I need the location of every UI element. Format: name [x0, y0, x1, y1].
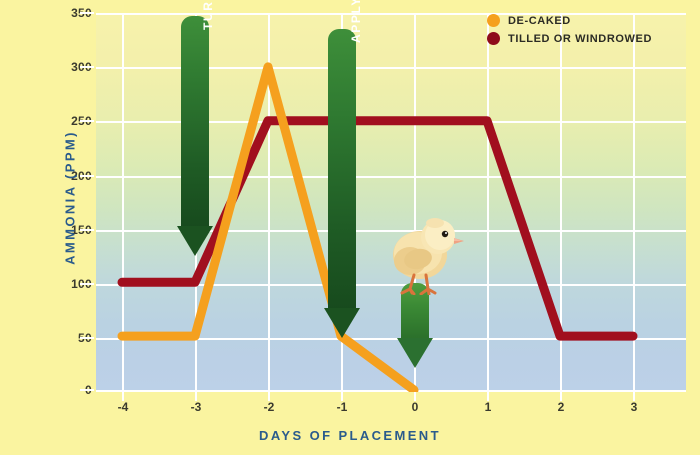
annotation-arrow-turn-on-heat: TURN ON HEAT: [181, 16, 209, 256]
annotation-label-turn-on-heat: TURN ON HEAT: [201, 0, 215, 30]
y-tick-mark: [80, 12, 94, 14]
plot-area: TURN ON HEAT APPLY LITTER TREATMENT: [96, 13, 686, 392]
chick-illustration: [388, 213, 466, 295]
x-tick-label: 1: [485, 400, 492, 414]
arrow-head-icon: [177, 226, 213, 256]
legend-color-swatch-icon: [487, 14, 500, 27]
series-line-de-caked: [122, 67, 414, 390]
x-tick-label: -2: [264, 400, 275, 414]
x-tick-label: -3: [191, 400, 202, 414]
legend: DE-CAKED TILLED OR WINDROWED: [487, 14, 652, 45]
legend-item-tilled-or-windrowed[interactable]: TILLED OR WINDROWED: [487, 32, 652, 45]
y-axis-ticks: 350 300 250 200 150 100 50 0: [0, 0, 92, 455]
annotation-label-apply-litter-treatment: APPLY LITTER TREATMENT: [349, 0, 363, 43]
y-tick-mark: [80, 120, 94, 122]
x-axis-title: DAYS OF PLACEMENT: [0, 428, 700, 443]
annotation-arrow-apply-litter-treatment: APPLY LITTER TREATMENT: [328, 29, 356, 341]
x-tick-label: 2: [558, 400, 565, 414]
legend-label: TILLED OR WINDROWED: [508, 33, 652, 45]
y-tick-mark: [80, 389, 94, 391]
arrow-shaft: [328, 29, 356, 311]
y-tick-mark: [80, 283, 94, 285]
annotation-arrow-placement: [401, 283, 429, 371]
legend-label: DE-CAKED: [508, 15, 571, 27]
legend-item-de-caked[interactable]: DE-CAKED: [487, 14, 652, 27]
arrow-head-icon: [324, 308, 360, 338]
x-tick-label: 0: [412, 400, 419, 414]
arrow-head-icon: [397, 338, 433, 368]
x-tick-label: -4: [118, 400, 129, 414]
ammonia-chart: TURN ON HEAT APPLY LITTER TREATMENT: [0, 0, 700, 455]
arrow-shaft: [181, 16, 209, 229]
legend-color-swatch-icon: [487, 32, 500, 45]
y-tick-mark: [80, 337, 94, 339]
y-tick-mark: [80, 66, 94, 68]
x-tick-label: -1: [337, 400, 348, 414]
y-tick-mark: [80, 175, 94, 177]
y-axis-title: AMMONIA (PPM): [63, 88, 78, 308]
x-tick-label: 3: [631, 400, 638, 414]
y-tick-mark: [80, 229, 94, 231]
